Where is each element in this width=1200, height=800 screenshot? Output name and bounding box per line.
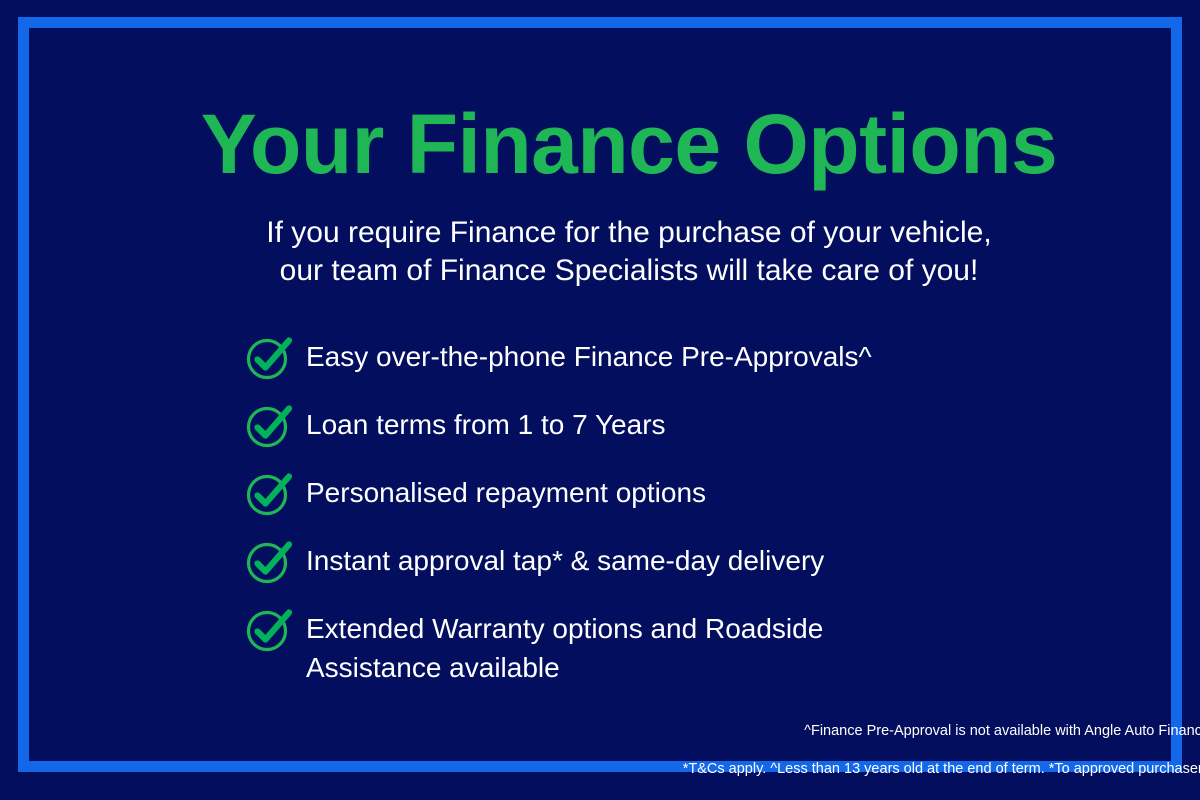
- benefits-list: Easy over-the-phone Finance Pre-Approval…: [244, 334, 1144, 687]
- check-circle-icon: [244, 604, 296, 654]
- list-item: Loan terms from 1 to 7 Years: [244, 402, 1144, 448]
- list-item-line-1: Instant approval tap* & same-day deliver…: [306, 545, 824, 576]
- list-item-text: Personalised repayment options: [306, 470, 1144, 512]
- fineprint-line-2: *T&Cs apply. ^Less than 13 years old at …: [214, 761, 1200, 777]
- subtitle: If you require Finance for the purchase …: [58, 214, 1200, 290]
- finance-options-poster: Your Finance Options If you require Fina…: [0, 0, 1200, 800]
- list-item-text: Easy over-the-phone Finance Pre-Approval…: [306, 334, 1144, 376]
- list-item: Extended Warranty options and Roadside A…: [244, 606, 1144, 687]
- list-item-text: Extended Warranty options and Roadside A…: [306, 606, 1144, 687]
- list-item: Easy over-the-phone Finance Pre-Approval…: [244, 334, 1144, 380]
- list-item-text: Instant approval tap* & same-day deliver…: [306, 538, 1144, 580]
- check-circle-icon: [244, 468, 296, 518]
- list-item-line-1: Easy over-the-phone Finance Pre-Approval…: [306, 341, 872, 372]
- list-item-text: Loan terms from 1 to 7 Years: [306, 402, 1144, 444]
- subtitle-line-1: If you require Finance for the purchase …: [58, 214, 1200, 252]
- check-circle-icon: [244, 400, 296, 450]
- page-title: Your Finance Options: [58, 102, 1200, 186]
- list-item: Personalised repayment options: [244, 470, 1144, 516]
- fineprint-disclaimer: ^Finance Pre-Approval is not available w…: [214, 723, 1200, 777]
- check-circle-icon: [244, 536, 296, 586]
- fineprint-line-1: ^Finance Pre-Approval is not available w…: [214, 723, 1200, 739]
- list-item-line-1: Loan terms from 1 to 7 Years: [306, 409, 666, 440]
- list-item-line-1: Personalised repayment options: [306, 477, 706, 508]
- poster-content: Your Finance Options If you require Fina…: [58, 56, 1200, 789]
- list-item-line-2: Assistance available: [306, 648, 1144, 687]
- list-item: Instant approval tap* & same-day deliver…: [244, 538, 1144, 584]
- check-circle-icon: [244, 332, 296, 382]
- list-item-line-1: Extended Warranty options and Roadside: [306, 613, 823, 644]
- subtitle-line-2: our team of Finance Specialists will tak…: [58, 252, 1200, 290]
- poster-border-frame: Your Finance Options If you require Fina…: [18, 17, 1182, 772]
